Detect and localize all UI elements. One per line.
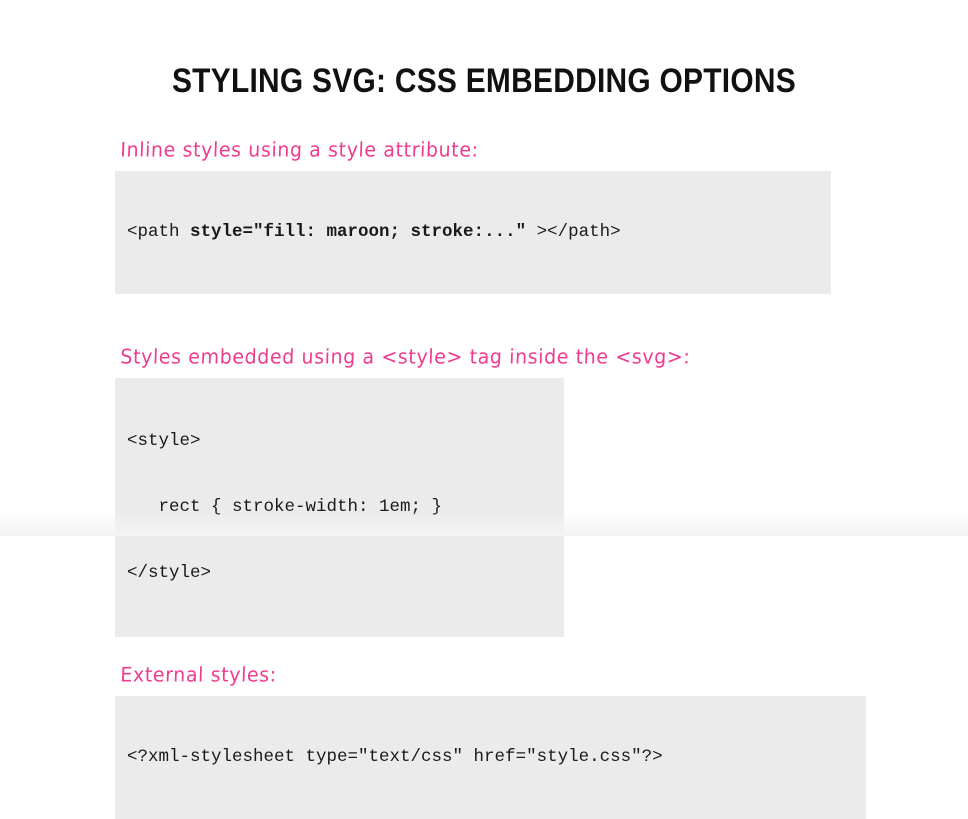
code-line: <path style="fill: maroon; stroke:..." >… — [127, 221, 817, 243]
section-label-embedded-styles: Styles embedded using a <style> tag insi… — [115, 346, 906, 369]
slide-content: Inline styles using a style attribute: <… — [115, 140, 905, 819]
section-label-inline-styles: Inline styles using a style attribute: — [115, 139, 906, 162]
section-external-styles: External styles: <?xml-stylesheet type="… — [115, 665, 905, 819]
code-text-bold: style="fill: maroon; stroke:..." — [190, 222, 526, 242]
code-block-external-styles: <?xml-stylesheet type="text/css" href="s… — [115, 696, 866, 819]
page-title: Styling SVG: CSS Embedding Options — [58, 62, 910, 100]
code-line: <?xml-stylesheet type="text/css" href="s… — [127, 746, 852, 768]
section-label-external-styles: External styles: — [115, 664, 906, 687]
section-inline-styles: Inline styles using a style attribute: <… — [115, 140, 905, 294]
code-line: </style> — [127, 562, 550, 584]
code-block-embedded-styles: <style> rect { stroke-width: 1em; } </st… — [115, 378, 564, 637]
section-embedded-styles: Styles embedded using a <style> tag insi… — [115, 347, 905, 637]
code-text-plain-tail: ></path> — [526, 222, 621, 242]
code-line: <style> — [127, 430, 550, 452]
slide-canvas: Styling SVG: CSS Embedding Options Inlin… — [0, 0, 968, 536]
code-block-inline-styles: <path style="fill: maroon; stroke:..." >… — [115, 171, 831, 294]
code-text-plain: <path — [127, 222, 190, 242]
code-line: rect { stroke-width: 1em; } — [127, 496, 550, 518]
section-spacer — [115, 294, 905, 347]
section-spacer — [115, 637, 905, 665]
